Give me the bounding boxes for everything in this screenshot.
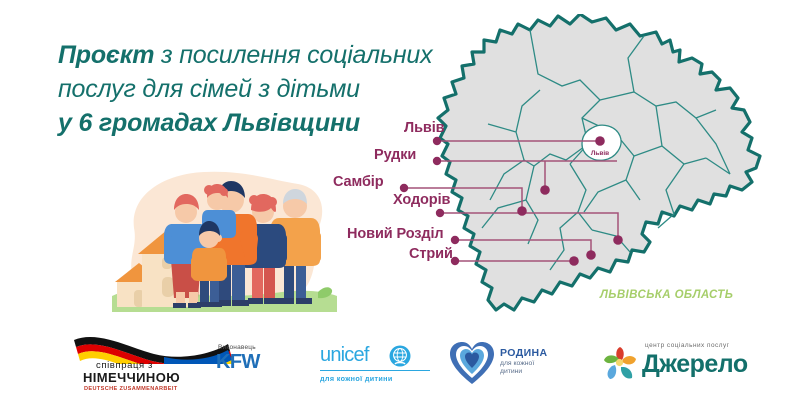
dzherelo-pinwheel-icon xyxy=(602,345,638,383)
rodyna-tagline-line1: для кожної xyxy=(500,360,534,367)
lviv-city-enclave xyxy=(582,125,621,160)
lviv-oblast-map xyxy=(430,14,790,334)
title-line-2: послуг для сімей з дітьми xyxy=(58,72,458,106)
city-label-novyi-rozdil[interactable]: Новий Розділ xyxy=(347,226,444,242)
page-title: Проєкт з посилення соціальних послуг для… xyxy=(58,38,458,140)
poster-root: Проєкт з посилення соціальних послуг для… xyxy=(0,0,800,420)
title-line-1: Проєкт з посилення соціальних xyxy=(58,38,458,72)
city-label-khodoriv[interactable]: Ходорів xyxy=(393,192,450,208)
logo-german-cooperation: співпраця з НІМЕЧЧИНОЮ DEUTSCHE ZUSAMMEN… xyxy=(60,334,240,396)
city-label-sambir[interactable]: Самбір xyxy=(333,174,384,190)
marker-label-sambir xyxy=(400,184,408,192)
kfw-label-top: Виконавець xyxy=(218,344,256,351)
rodyna-heart-icon xyxy=(448,340,496,386)
title-line-1-rest: з посилення соціальних xyxy=(154,41,432,69)
city-label-lviv[interactable]: Львів xyxy=(404,120,444,136)
logo-unicef: unicef для кожної дитини xyxy=(320,344,450,388)
unicef-divider xyxy=(320,370,430,371)
dzherelo-tagline: центр соціальних послуг xyxy=(645,342,729,349)
rodyna-tagline: для кожноїдитини xyxy=(500,360,534,377)
city-label-rudky[interactable]: Рудки xyxy=(374,147,416,163)
unicef-tagline: для кожної дитини xyxy=(320,374,393,383)
unicef-wordmark: unicef xyxy=(320,344,369,367)
german-logo-line3: DEUTSCHE ZUSAMMENARBEIT xyxy=(84,386,178,392)
logo-strip: співпраця з НІМЕЧЧИНОЮ DEUTSCHE ZUSAMMEN… xyxy=(0,330,800,410)
rodyna-tagline-line2: дитини xyxy=(500,368,522,375)
title-line-3: у 6 громадах Львівщини xyxy=(58,106,458,140)
unicef-globe-icon xyxy=(389,345,411,367)
german-logo-line2: НІМЕЧЧИНОЮ xyxy=(83,370,180,385)
dzherelo-wordmark: Джерело xyxy=(642,350,748,379)
family-illustration xyxy=(112,162,337,312)
logo-kfw: Виконавець KFW xyxy=(216,344,296,384)
city-label-stryi[interactable]: Стрий xyxy=(409,246,453,262)
logo-dzherelo: центр соціальних послуг Джерело xyxy=(600,342,750,392)
logo-rodyna: РОДИНА для кожноїдитини xyxy=(448,340,598,390)
title-emphasis: Проєкт xyxy=(58,41,154,69)
oblast-region-label: ЛЬВІВСЬКА ОБЛАСТЬ xyxy=(600,289,733,301)
kfw-wordmark: KFW xyxy=(216,351,260,374)
rodyna-wordmark: РОДИНА xyxy=(500,347,548,359)
